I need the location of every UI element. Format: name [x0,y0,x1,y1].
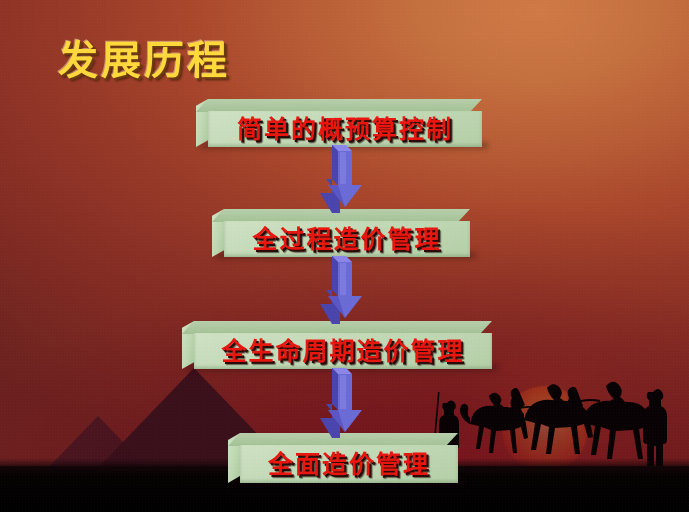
background-noise-texture [0,0,689,512]
presentation-slide: 发展历程 简单的概预算控制 全过程造价管理 全生命周期造价管理 全面造价管理 [0,0,689,512]
